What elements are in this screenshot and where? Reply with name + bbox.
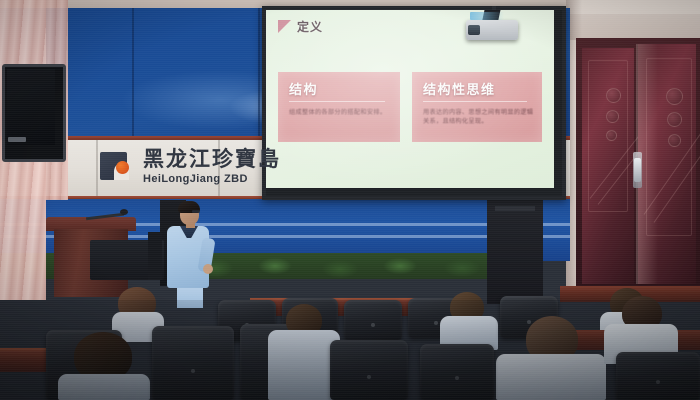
desk-row: [250, 300, 430, 316]
tv-screen: [7, 69, 55, 145]
seat[interactable]: [330, 340, 408, 400]
stage-equipment-side: [148, 232, 162, 280]
door-circle-ornament: [606, 88, 621, 103]
slide-box-heading: 结构: [289, 79, 318, 98]
slide-box-body: 用表达的内容、思想之间有明显的逻辑关系，且结构化呈现。: [423, 108, 535, 126]
wall-seam: [258, 8, 260, 138]
company-banner: 黑龙江珍寶島 HeiLongJiang ZBD: [100, 143, 315, 191]
slide-box-heading: 结构性思维: [423, 79, 496, 98]
door-circle-ornament: [606, 110, 619, 123]
seat[interactable]: [152, 326, 234, 400]
slide-title: 定义: [297, 18, 323, 35]
microphone-icon: [120, 209, 128, 215]
presenter-glasses-icon: [192, 210, 200, 213]
door-handle[interactable]: [634, 158, 641, 182]
wall-above-door: [566, 14, 700, 40]
door-left[interactable]: [582, 48, 634, 284]
banner-clip: 黑龙江珍寶島 HeiLongJiang ZBD: [100, 143, 315, 191]
tv-brand-logo: [8, 137, 26, 142]
triangle-marker-icon: [278, 20, 291, 33]
slide-title-group: 定义: [278, 18, 323, 35]
lecture-hall-photo: 定义 结构 组成整体的各部分的搭配和安排。 结构性思维 用表达的内容、思想之间有…: [0, 0, 700, 400]
slide-box-body: 组成整体的各部分的搭配和安排。: [289, 108, 393, 117]
projector-lens: [468, 25, 480, 35]
slide-box-structured-thinking: 结构性思维 用表达的内容、思想之间有明显的逻辑关系，且结构化呈现。: [412, 72, 542, 142]
slide-box-divider: [289, 101, 385, 102]
door-circle-ornament: [606, 130, 617, 141]
banner-chinese-name: 黑龙江珍寶島: [143, 149, 281, 170]
seat[interactable]: [616, 352, 700, 400]
banner-english-name: HeiLongJiang ZBD: [143, 174, 281, 185]
seat[interactable]: [344, 300, 402, 340]
audience-torso: [496, 354, 606, 400]
projector-badge: [470, 12, 504, 20]
company-logo-icon: [100, 152, 134, 182]
speaker-vent: [495, 206, 535, 211]
desk-edge: [250, 298, 430, 302]
seat[interactable]: [420, 344, 494, 400]
presenter-hand: [203, 264, 213, 274]
panel-seam: [96, 140, 98, 200]
slide-box-structure: 结构 组成整体的各部分的搭配和安排。: [278, 72, 400, 142]
door-circle-ornament: [666, 88, 683, 105]
audience-head: [74, 332, 132, 380]
door-circle-ornament: [668, 134, 681, 147]
wall-seam: [132, 8, 134, 138]
door-circle-ornament: [667, 112, 682, 127]
banner-text-group: 黑龙江珍寶島 HeiLongJiang ZBD: [143, 149, 281, 185]
audience-torso: [58, 374, 150, 400]
slide-box-divider: [423, 101, 527, 102]
logo-orange-dot-icon: [116, 161, 129, 174]
loudspeaker-cabinet: [487, 196, 543, 304]
